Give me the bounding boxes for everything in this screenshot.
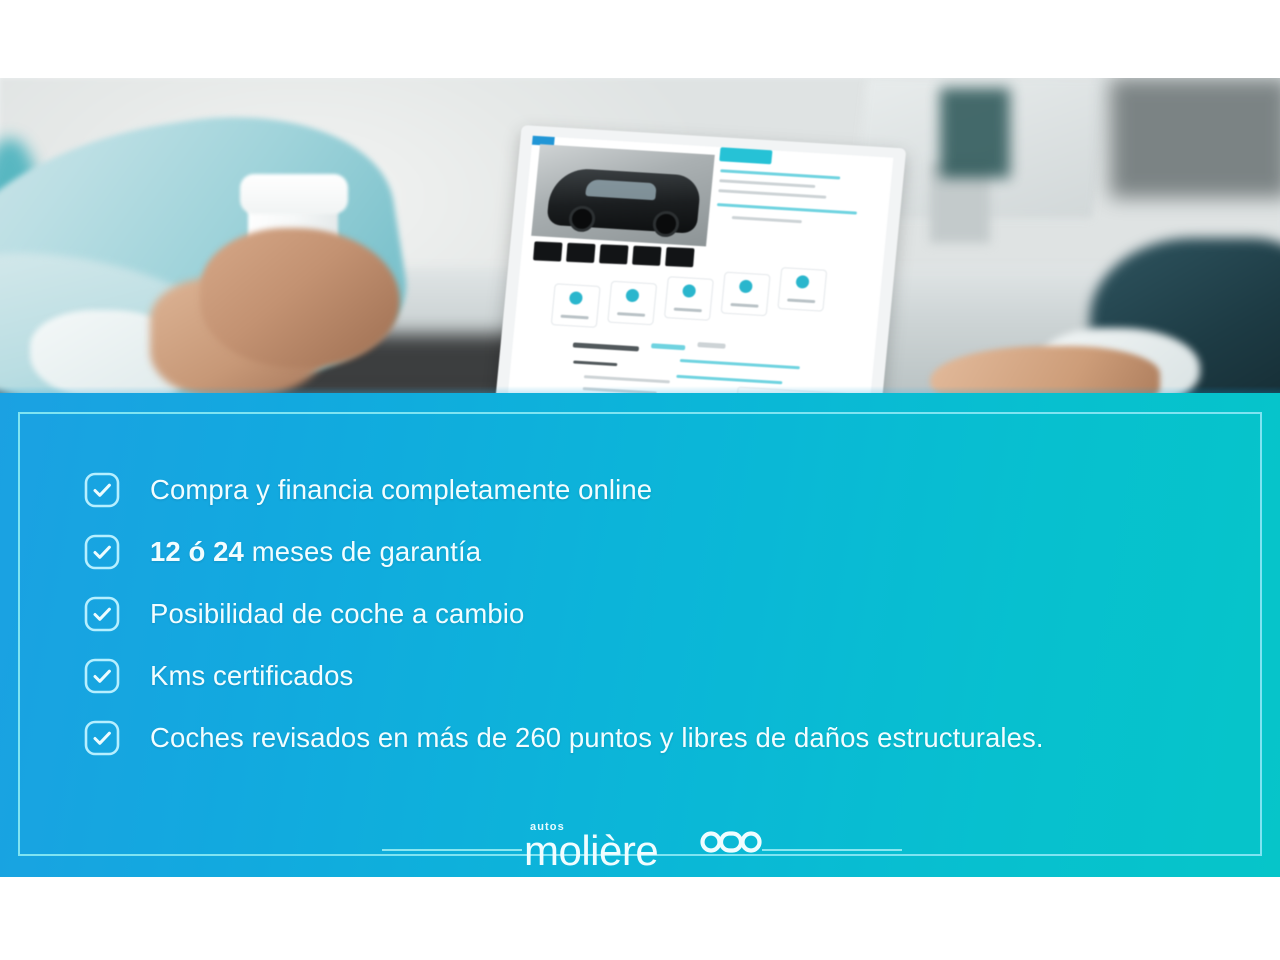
feature-item: Posibilidad de coche a cambio [82, 585, 1212, 643]
tablet-feature-tile [721, 272, 771, 317]
tile-icon [739, 280, 753, 294]
feature-label-rest: meses de garantía [244, 536, 481, 567]
thumbnail [665, 247, 694, 267]
feature-label: 12 ó 24 meses de garantía [150, 536, 481, 568]
bottom-white-band [0, 877, 1280, 960]
thumbnail [533, 241, 562, 261]
feature-label: Coches revisados en más de 260 puntos y … [150, 722, 1044, 754]
check-square-icon [82, 594, 122, 634]
dark-object-blur [940, 88, 1010, 178]
tablet-feature-tile [551, 283, 601, 328]
feature-list: Compra y financia completamente online 1… [82, 461, 1212, 771]
tile-label [730, 303, 758, 308]
tablet-text-line [718, 189, 826, 199]
features-panel: Compra y financia completamente online 1… [0, 393, 1280, 877]
page-root: Compra y financia completamente online 1… [0, 0, 1280, 960]
tablet-price-badge [719, 147, 772, 164]
tablet-feature-tile [664, 276, 714, 321]
tile-icon [682, 284, 696, 298]
coffee-cup-lid [240, 174, 348, 214]
tablet-tab [697, 342, 725, 349]
tablet-text-line [720, 169, 840, 179]
tablet-text-line [676, 375, 782, 384]
brand-logo: autos molière [522, 821, 762, 877]
thumbnail [599, 244, 628, 264]
feature-label: Compra y financia completamente online [150, 474, 652, 506]
car-wheel-front [568, 205, 596, 232]
tile-icon [569, 291, 583, 305]
tablet-car-photo [531, 144, 715, 246]
tablet-text-line [717, 203, 857, 215]
logo-strip: autos molière [0, 821, 1280, 877]
tablet-text-line [584, 375, 670, 383]
divider-left [382, 849, 522, 851]
hand-holding-cup [200, 228, 400, 368]
feature-item: 12 ó 24 meses de garantía [82, 523, 1212, 581]
check-square-icon [82, 656, 122, 696]
thumbnail [566, 243, 595, 263]
tile-label [674, 308, 702, 313]
tablet-thumbnail-strip [533, 241, 695, 267]
tablet-tab-active [651, 343, 685, 350]
car-wheel-rear [652, 210, 680, 237]
tablet-feature-tile [777, 267, 827, 312]
dark-object-blur-2 [1110, 78, 1280, 198]
tablet-text-line [680, 359, 800, 369]
check-square-icon [82, 532, 122, 572]
feature-label-bold: 12 ó 24 [150, 536, 244, 567]
tile-label [787, 298, 815, 303]
hero-photo-inner [0, 78, 1280, 394]
feature-item: Kms certificados [82, 647, 1212, 705]
chain-link-icon [700, 829, 762, 860]
check-square-icon [82, 718, 122, 758]
check-square-icon [82, 470, 122, 510]
tile-icon [625, 289, 639, 303]
tablet-text-line [573, 360, 617, 366]
divider-right [762, 849, 902, 851]
tablet-section-title [573, 342, 639, 351]
feature-item: Coches revisados en más de 260 puntos y … [82, 709, 1212, 767]
top-white-band [0, 0, 1280, 78]
tablet-device [489, 125, 907, 394]
hero-photo [0, 0, 1280, 394]
tablet-text-line [719, 179, 815, 188]
car-illustration [546, 167, 701, 234]
feature-label: Posibilidad de coche a cambio [150, 598, 524, 630]
tile-label [560, 315, 588, 320]
tile-icon [795, 275, 809, 289]
feature-item: Compra y financia completamente online [82, 461, 1212, 519]
tile-label [617, 312, 645, 317]
logo-wordmark: molière [524, 829, 658, 873]
thumbnail [632, 246, 661, 266]
car-window [585, 179, 657, 200]
feature-label: Kms certificados [150, 660, 353, 692]
tablet-text-line [732, 216, 802, 223]
tablet-feature-tile [607, 281, 657, 326]
tablet-screen [502, 136, 894, 394]
